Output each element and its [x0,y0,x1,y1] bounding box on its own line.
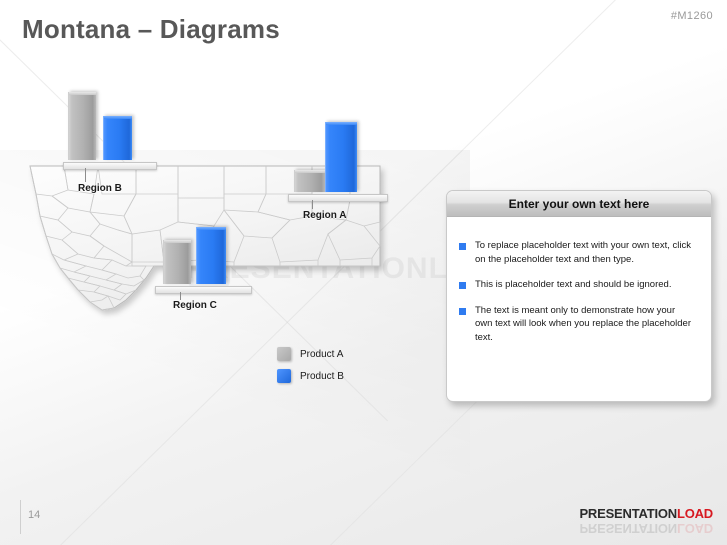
bullet-item[interactable]: This is placeholder text and should be i… [459,278,695,292]
legend-label: Product B [300,371,344,382]
brand-logo-reflection-accent: LOAD [677,521,713,536]
bullet-square-icon [459,243,466,250]
bar-platform [288,194,388,202]
legend-item-product-a[interactable]: Product A [277,343,344,365]
bullet-square-icon [459,308,466,315]
bar-region-c-product-a[interactable] [163,240,191,284]
bar-platform [63,162,157,170]
region-label-region-b: Region B [78,183,122,194]
region-label-region-c: Region C [173,300,217,311]
brand-logo-reflection-primary: PRESENTATION [579,521,677,536]
region-c-leader-line [180,292,181,300]
footer-divider [20,500,21,534]
brand-logo-accent: LOAD [677,506,713,521]
brand-logo-primary: PRESENTATION [579,506,677,521]
legend-item-product-b[interactable]: Product B [277,365,344,387]
bullet-square-icon [459,282,466,289]
bar-region-c-product-b[interactable] [196,227,226,284]
region-a-leader-line [312,200,313,209]
brand-logo: PRESENTATIONLOAD [579,506,713,521]
region-label-region-a: Region A [303,210,347,221]
bullet-text: To replace placeholder text with your ow… [475,239,695,266]
bar-region-b-product-b[interactable] [103,116,132,160]
text-box-header: Enter your own text here [447,191,711,217]
bar-region-b-product-a[interactable] [68,92,96,160]
bar-region-a-product-a[interactable] [294,170,325,192]
brand-logo-reflection: PRESENTATIONLOAD [579,521,713,536]
bullet-text: This is placeholder text and should be i… [475,278,695,292]
text-box-title: Enter your own text here [509,197,650,211]
bullet-item[interactable]: To replace placeholder text with your ow… [459,239,695,266]
chart-legend: Product A Product B [277,343,344,387]
text-placeholder-box[interactable]: Enter your own text here To replace plac… [446,190,712,402]
bar-platform [155,286,252,294]
bullet-text: The text is meant only to demonstrate ho… [475,304,695,345]
page-title: Montana – Diagrams [22,14,280,45]
legend-label: Product A [300,349,343,360]
bar-region-a-product-b[interactable] [325,122,357,192]
slide-canvas: Montana – Diagrams #M1260 PRESENTATIONLO… [0,0,727,545]
document-code: #M1260 [671,10,713,22]
page-number: 14 [28,509,40,521]
text-box-body[interactable]: To replace placeholder text with your ow… [447,217,711,344]
legend-swatch-icon [277,347,291,361]
legend-swatch-icon [277,369,291,383]
bullet-item[interactable]: The text is meant only to demonstrate ho… [459,304,695,345]
region-b-leader-line [85,168,86,182]
